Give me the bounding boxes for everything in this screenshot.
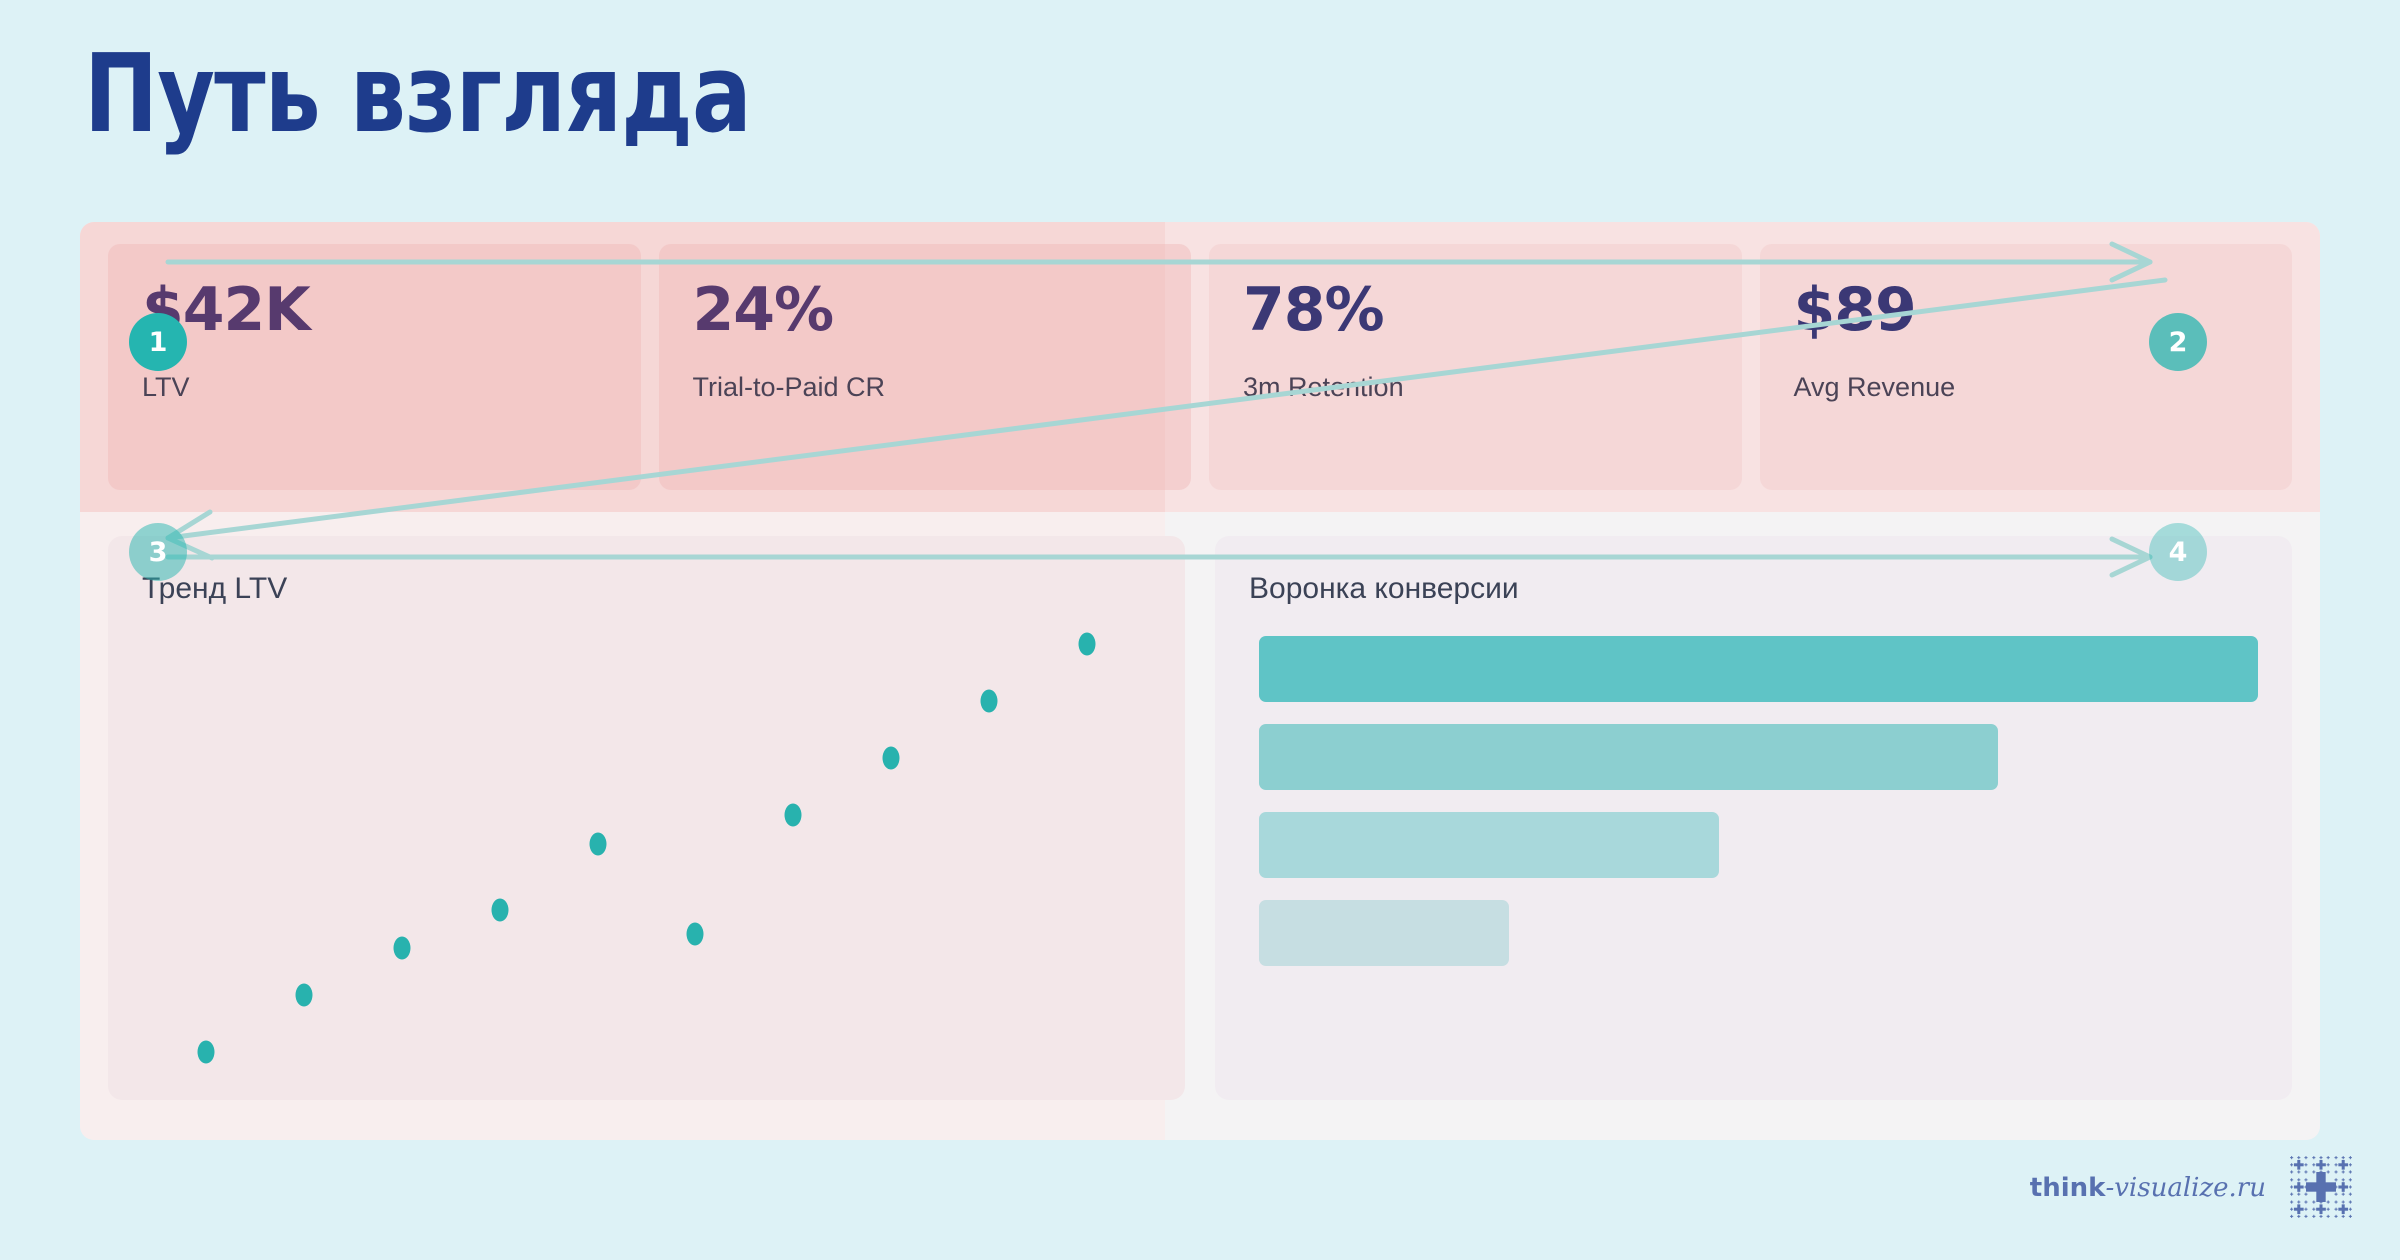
scatter-point xyxy=(687,922,704,945)
panels-row: Тренд LTV Воронка конверсии xyxy=(80,512,2320,1140)
kpi-value: 24% xyxy=(693,280,1158,340)
funnel-bar xyxy=(1259,900,1509,966)
scatter-point xyxy=(491,898,508,921)
kpi-label: Trial-to-Paid CR xyxy=(693,372,1158,403)
panel-title: Воронка конверсии xyxy=(1249,572,2258,606)
panel-title: Тренд LTV xyxy=(142,572,1151,606)
scatter-chart xyxy=(108,616,1185,1090)
scatter-point xyxy=(197,1041,214,1064)
scatter-point xyxy=(981,690,998,713)
watermark-italic: -visualize.ru xyxy=(2105,1173,2266,1203)
scatter-point xyxy=(1079,633,1096,656)
watermark-bold: think xyxy=(2030,1173,2106,1203)
kpi-value: $42K xyxy=(142,280,607,340)
kpi-card-trial-to-paid-cr[interactable]: 24% Trial-to-Paid CR xyxy=(659,244,1192,490)
funnel-chart xyxy=(1259,636,2258,1080)
funnel-bar xyxy=(1259,724,1998,790)
funnel-bar xyxy=(1259,636,2258,702)
gaze-badge-3[interactable]: 3 xyxy=(129,523,187,581)
kpi-card-ltv[interactable]: $42K LTV xyxy=(108,244,641,490)
page-title: Путь взгляда xyxy=(84,32,751,157)
panel-ltv-trend[interactable]: Тренд LTV xyxy=(108,536,1185,1100)
scatter-point xyxy=(393,936,410,959)
gaze-badge-1[interactable]: 1 xyxy=(129,313,187,371)
kpi-label: 3m Retention xyxy=(1243,372,1708,403)
scatter-point xyxy=(785,804,802,827)
watermark: think-visualize.ru xyxy=(2030,1150,2358,1224)
funnel-bar xyxy=(1259,812,1719,878)
kpi-row: $42K LTV 24% Trial-to-Paid CR 78% 3m Ret… xyxy=(80,222,2320,512)
kpi-label: Avg Revenue xyxy=(1794,372,2259,403)
scatter-point xyxy=(589,832,606,855)
plus-fractal-logo-icon xyxy=(2284,1150,2358,1224)
scatter-point xyxy=(295,984,312,1007)
scatter-point xyxy=(883,747,900,770)
kpi-card-3m-retention[interactable]: 78% 3m Retention xyxy=(1209,244,1742,490)
dashboard-container: $42K LTV 24% Trial-to-Paid CR 78% 3m Ret… xyxy=(80,222,2320,1140)
gaze-badge-2[interactable]: 2 xyxy=(2149,313,2207,371)
kpi-card-avg-revenue[interactable]: $89 Avg Revenue xyxy=(1760,244,2293,490)
watermark-text: think-visualize.ru xyxy=(2030,1172,2266,1203)
kpi-value: 78% xyxy=(1243,280,1708,340)
gaze-badge-4[interactable]: 4 xyxy=(2149,523,2207,581)
kpi-label: LTV xyxy=(142,372,607,403)
panel-conversion-funnel[interactable]: Воронка конверсии xyxy=(1215,536,2292,1100)
